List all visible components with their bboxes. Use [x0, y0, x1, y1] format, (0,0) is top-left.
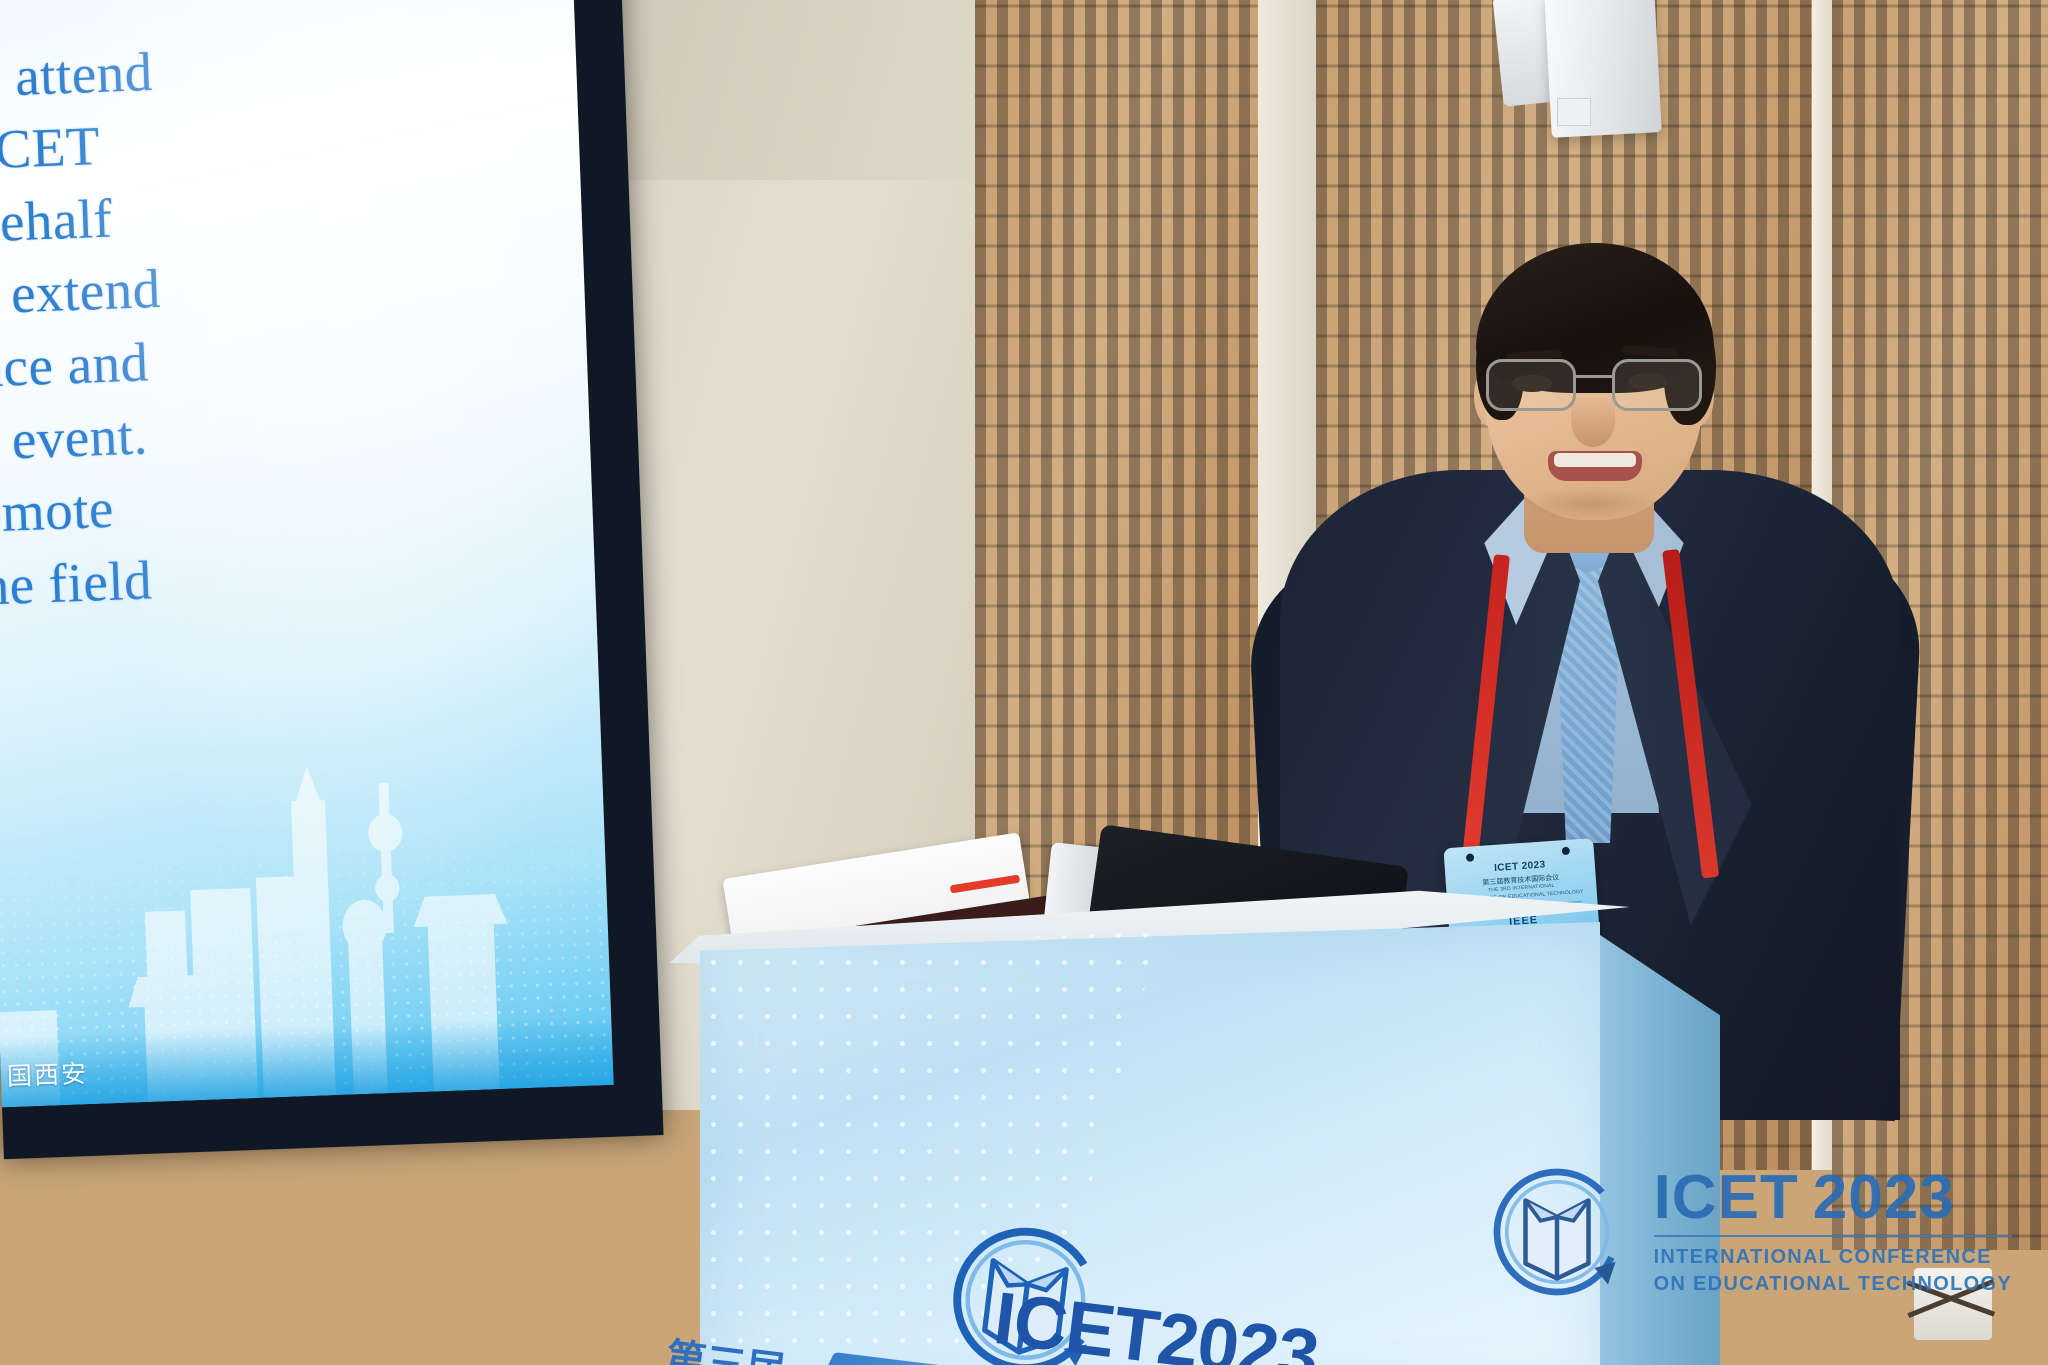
eyeglass-bridge: [1576, 375, 1614, 378]
watermark-year: 2023: [1813, 1167, 1955, 1229]
wood-acoustic-panel-center: [975, 0, 1275, 970]
watermark-subtitle-line1: INTERNATIONAL CONFERENCE: [1654, 1244, 2012, 1271]
nose: [1571, 395, 1615, 447]
watermark: ICET 2023 INTERNATIONAL CONFERENCE ON ED…: [1482, 1157, 2012, 1307]
badge-hole-right: [1562, 847, 1571, 856]
chin-shadow: [1520, 487, 1660, 521]
icet-m-book-logo: [1482, 1157, 1632, 1307]
projection-screen: ts, here to attend nology (ICET PU. On b…: [0, 0, 614, 1107]
projection-screen-frame: ts, here to attend nology (ICET PU. On b…: [0, 0, 664, 1159]
watermark-subtitle-line2: ON EDUCATIONAL TECHNOLOGY: [1654, 1271, 2012, 1298]
watermark-title-row: ICET 2023: [1654, 1167, 2012, 1229]
photo-scene: ts, here to attend nology (ICET PU. On b…: [0, 0, 2048, 1365]
teeth: [1554, 453, 1636, 467]
eyeglass-lens-right: [1612, 359, 1702, 411]
slide-text-block: ts, here to attend nology (ICET PU. On b…: [0, 0, 594, 629]
watermark-text: ICET 2023 INTERNATIONAL CONFERENCE ON ED…: [1654, 1167, 2012, 1298]
wall-speaker-label: [1557, 98, 1591, 126]
eyeglass-lens-left: [1486, 359, 1576, 411]
mouth: [1548, 451, 1642, 481]
watermark-divider: [1654, 1235, 2012, 1237]
screen-footer-text: 国西安: [6, 1054, 88, 1093]
watermark-brand: ICET: [1654, 1167, 1799, 1229]
badge-hole-left: [1466, 853, 1475, 862]
